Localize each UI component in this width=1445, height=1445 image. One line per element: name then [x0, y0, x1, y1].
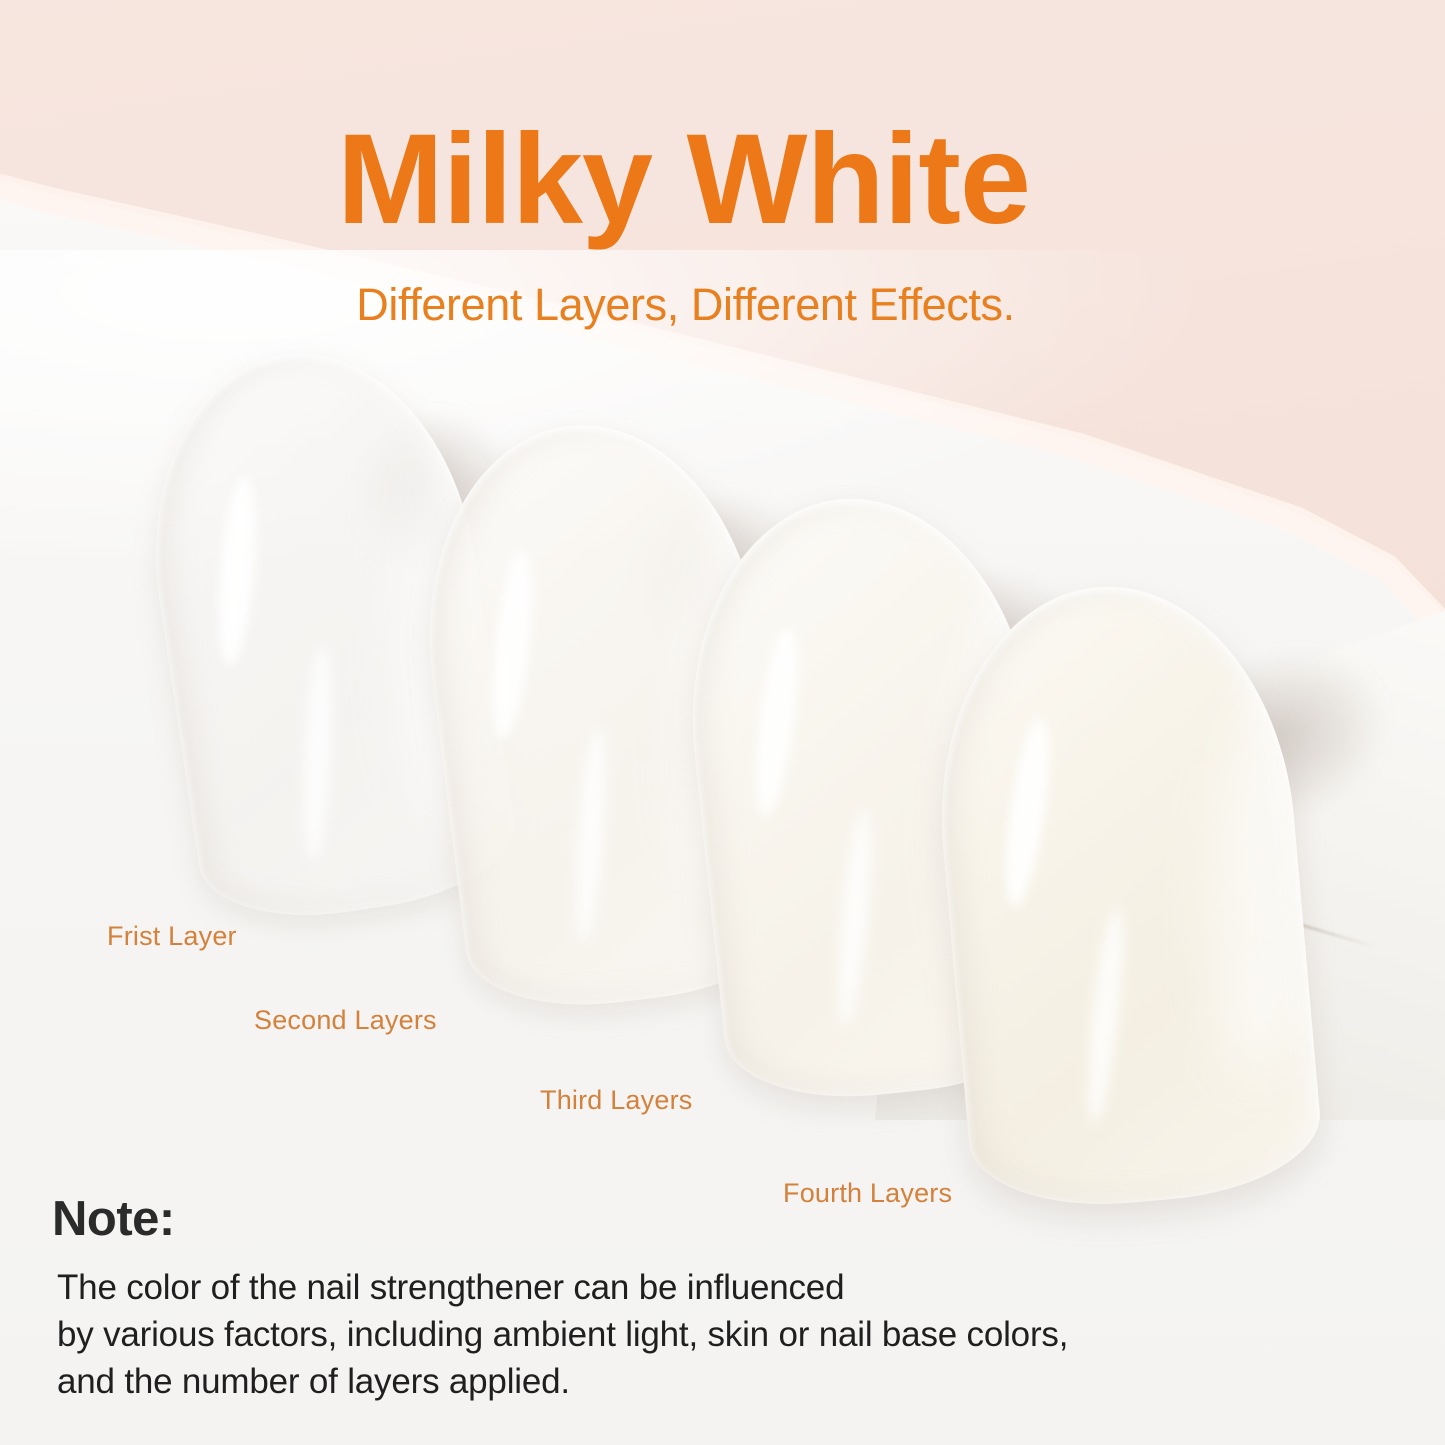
note-line-3: and the number of layers applied. [57, 1359, 1387, 1406]
gloss-highlight-icon [748, 625, 805, 818]
note-line-1: The color of the nail strengthener can b… [57, 1265, 1387, 1312]
page-title: Milky White [0, 116, 1445, 244]
gloss-highlight-icon [998, 716, 1058, 909]
layer-label-first: Frist Layer [107, 921, 237, 952]
layer-label-third: Third Layers [540, 1085, 692, 1116]
note-heading: Note: [52, 1191, 175, 1247]
note-line-2: by various factors, including ambient li… [57, 1312, 1387, 1359]
layer-label-fourth: Fourth Layers [783, 1178, 952, 1209]
product-infographic: Milky White Different Layers, Different … [0, 0, 1445, 1445]
layer-label-second: Second Layers [254, 1005, 437, 1036]
gloss-highlight-icon [485, 549, 539, 742]
gloss-highlight-icon [300, 645, 335, 861]
note-body: The color of the nail strengthener can b… [57, 1265, 1387, 1406]
gloss-highlight-icon [1081, 908, 1129, 1125]
gloss-highlight-icon [833, 809, 878, 1025]
gloss-highlight-icon [571, 726, 612, 942]
gloss-highlight-icon [212, 475, 261, 667]
page-subtitle: Different Layers, Different Effects. [0, 282, 1445, 327]
